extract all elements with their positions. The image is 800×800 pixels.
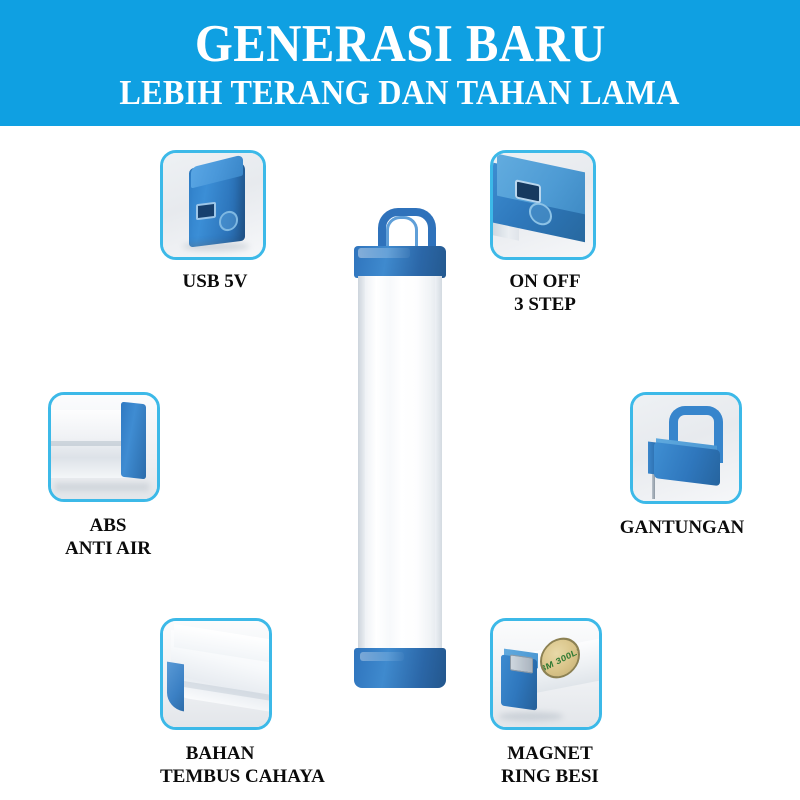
- caption-line: BAHAN: [160, 742, 280, 765]
- callout-switch-photo-frame: [490, 150, 596, 260]
- banner-title: GENERASI BARU: [194, 16, 605, 72]
- caption-line: TEMBUS CAHAYA: [160, 765, 280, 788]
- adhesive-disc-label: 3M 300LSE: [540, 646, 580, 674]
- callout-diffuser-photo-frame: [160, 618, 272, 730]
- callout-magnet: 3M 300LSE MAGNET RING BESI: [490, 618, 610, 794]
- callout-abs: ABS ANTI AIR: [48, 392, 168, 568]
- lamp-tube-right-edge: [435, 276, 442, 650]
- diffuser-profile-photo: [163, 621, 269, 727]
- lamp-diffuser-tube: [358, 276, 442, 650]
- callout-diffuser: BAHAN TEMBUS CAHAYA: [160, 618, 280, 794]
- hanger-box-body: [654, 442, 720, 486]
- product-lamp-image: [340, 200, 460, 690]
- usb-socket-icon: [196, 202, 216, 221]
- callout-hanger: GANTUNGAN: [612, 392, 752, 542]
- product-infographic: GENERASI BARU LEBIH TERANG DAN TAHAN LAM…: [0, 0, 800, 800]
- abs-housing-photo: [51, 395, 157, 499]
- caption-line: ABS: [48, 514, 168, 537]
- callout-hanger-caption: GANTUNGAN: [612, 516, 752, 539]
- caption-line: ON OFF: [490, 270, 600, 293]
- caption-line: ANTI AIR: [48, 537, 168, 560]
- callout-usb: USB 5V: [160, 150, 270, 300]
- callout-switch-caption: ON OFF 3 STEP: [490, 270, 600, 316]
- magnet-metal-bar: [510, 654, 533, 673]
- callout-usb-caption: USB 5V: [160, 270, 270, 293]
- header-banner: GENERASI BARU LEBIH TERANG DAN TAHAN LAM…: [0, 0, 800, 126]
- callout-diffuser-caption: BAHAN TEMBUS CAHAYA: [160, 742, 280, 788]
- callout-abs-photo-frame: [48, 392, 160, 502]
- callout-magnet-caption: MAGNET RING BESI: [490, 742, 610, 788]
- caption-line: USB 5V: [160, 270, 270, 293]
- caption-line: MAGNET: [490, 742, 610, 765]
- hanger-bracket-photo: [633, 395, 739, 501]
- callout-abs-caption: ABS ANTI AIR: [48, 514, 168, 560]
- switch-top-photo: [493, 153, 593, 257]
- usb-port-photo: [163, 153, 263, 257]
- magnet-photo: 3M 300LSE: [493, 621, 599, 727]
- lamp-tube-left-edge: [358, 276, 365, 650]
- photo-shadow: [499, 712, 563, 720]
- lamp-top-cap-highlight: [358, 248, 410, 258]
- photo-shadow: [55, 483, 148, 490]
- caption-line: GANTUNGAN: [612, 516, 752, 539]
- callout-hanger-photo-frame: [630, 392, 742, 504]
- photo-shadow: [183, 242, 249, 250]
- caption-line: RING BESI: [490, 765, 610, 788]
- banner-subtitle: LEBIH TERANG DAN TAHAN LAMA: [120, 74, 680, 111]
- abs-blue-endcap: [121, 402, 146, 480]
- callout-usb-photo-frame: [160, 150, 266, 260]
- lamp-bottom-cap-highlight: [360, 652, 404, 661]
- caption-line: 3 STEP: [490, 293, 600, 316]
- callout-switch: ON OFF 3 STEP: [490, 150, 600, 326]
- callout-magnet-photo-frame: 3M 300LSE: [490, 618, 602, 730]
